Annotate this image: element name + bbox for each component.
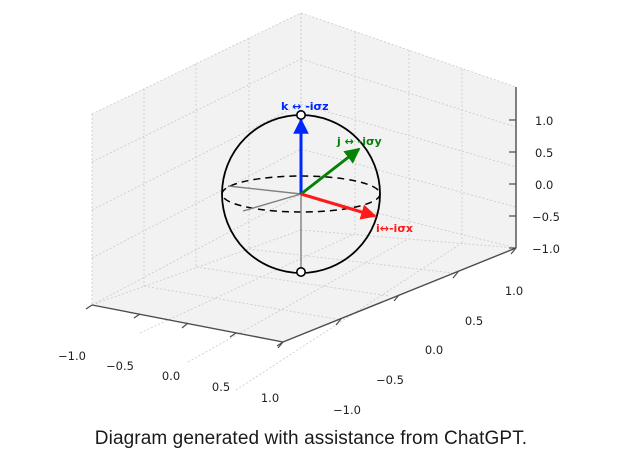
vector-label-i: i↔-iσx xyxy=(376,222,413,235)
x-ticklabel-2: 0.0 xyxy=(162,369,180,383)
x-tick-2 xyxy=(182,323,188,328)
z-ticklabel-1: 0.5 xyxy=(535,146,553,160)
x-ticklabel-0: −1.0 xyxy=(58,349,86,363)
3d-plot: k ↔ -iσz j ↔ -iσy i↔-iσx −1.0 −0.5 0.0 0… xyxy=(0,0,622,475)
y-ticklabel-4: −1.0 xyxy=(333,403,361,417)
y-ticklabel-1: 0.5 xyxy=(465,314,483,328)
x-tick-1 xyxy=(134,314,140,318)
z-ticklabel-3: −0.5 xyxy=(532,210,560,224)
z-ticklabel-4: −1.0 xyxy=(532,242,560,256)
x-tick-3 xyxy=(230,333,236,337)
z-axis-tick-labels: 1.0 0.5 0.0 −0.5 −1.0 xyxy=(532,114,560,256)
x-axis-tick-labels: −1.0 −0.5 0.0 0.5 1.0 xyxy=(58,349,279,405)
pane-right-wall xyxy=(301,13,516,248)
x-ticklabel-3: 0.5 xyxy=(212,380,230,394)
y-ticklabel-2: 0.0 xyxy=(425,343,443,357)
south-pole-marker xyxy=(297,268,305,276)
z-ticklabel-2: 0.0 xyxy=(535,178,553,192)
x-tick-0 xyxy=(86,305,92,309)
figure-caption: Diagram generated with assistance from C… xyxy=(0,428,622,450)
y-ticklabel-0: 1.0 xyxy=(505,284,523,298)
x-ticklabel-4: 1.0 xyxy=(261,391,279,405)
y-ticklabel-3: −0.5 xyxy=(376,373,404,387)
vector-label-j: j ↔ -iσy xyxy=(336,135,382,148)
axes-panes xyxy=(92,13,516,342)
x-ticklabel-1: −0.5 xyxy=(106,359,134,373)
vector-label-k: k ↔ -iσz xyxy=(281,100,329,113)
z-ticklabel-0: 1.0 xyxy=(535,114,553,128)
figure-container: k ↔ -iσz j ↔ -iσy i↔-iσx −1.0 −0.5 0.0 0… xyxy=(0,0,622,475)
